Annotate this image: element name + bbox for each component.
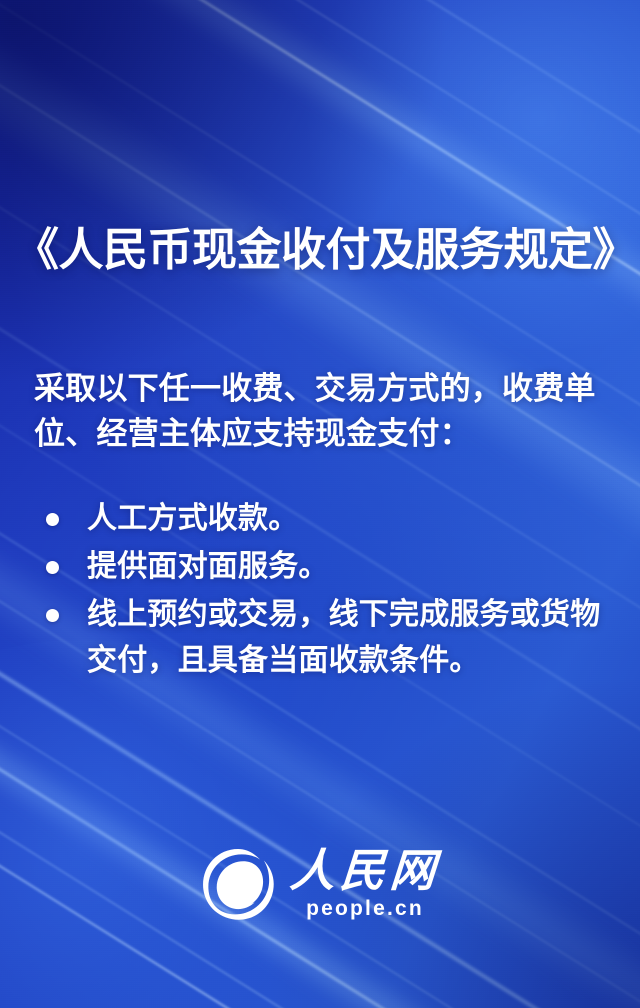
poster-canvas: 《人民币现金收付及服务规定》 采取以下任一收费、交易方式的，收费单位、经营主体应… bbox=[0, 0, 640, 1008]
condition-list: 人工方式收款。 提供面对面服务。 线上预约或交易，线下完成服务或货物交付，且具备… bbox=[46, 496, 626, 686]
list-item: 人工方式收款。 bbox=[46, 496, 626, 542]
people-cn-logo: 人民网 people.cn bbox=[0, 838, 640, 930]
bullet-dot-icon bbox=[46, 561, 59, 574]
logo-wordmark: 人民网 people.cn bbox=[290, 848, 440, 920]
lead-paragraph: 采取以下任一收费、交易方式的，收费单位、经营主体应支持现金支付： bbox=[34, 366, 612, 456]
list-item-label: 线上预约或交易，线下完成服务或货物交付，且具备当面收款条件。 bbox=[87, 592, 626, 684]
bullet-dot-icon bbox=[46, 513, 59, 526]
logo-domain: people.cn bbox=[306, 897, 424, 920]
list-item-label: 人工方式收款。 bbox=[87, 496, 298, 542]
people-globe-icon bbox=[200, 846, 276, 922]
bullet-dot-icon bbox=[46, 609, 59, 622]
page-title: 《人民币现金收付及服务规定》 bbox=[14, 222, 626, 278]
list-item-label: 提供面对面服务。 bbox=[87, 544, 329, 590]
list-item: 线上预约或交易，线下完成服务或货物交付，且具备当面收款条件。 bbox=[46, 592, 626, 684]
list-item: 提供面对面服务。 bbox=[46, 544, 626, 590]
logo-chinese-name: 人民网 bbox=[288, 848, 441, 894]
